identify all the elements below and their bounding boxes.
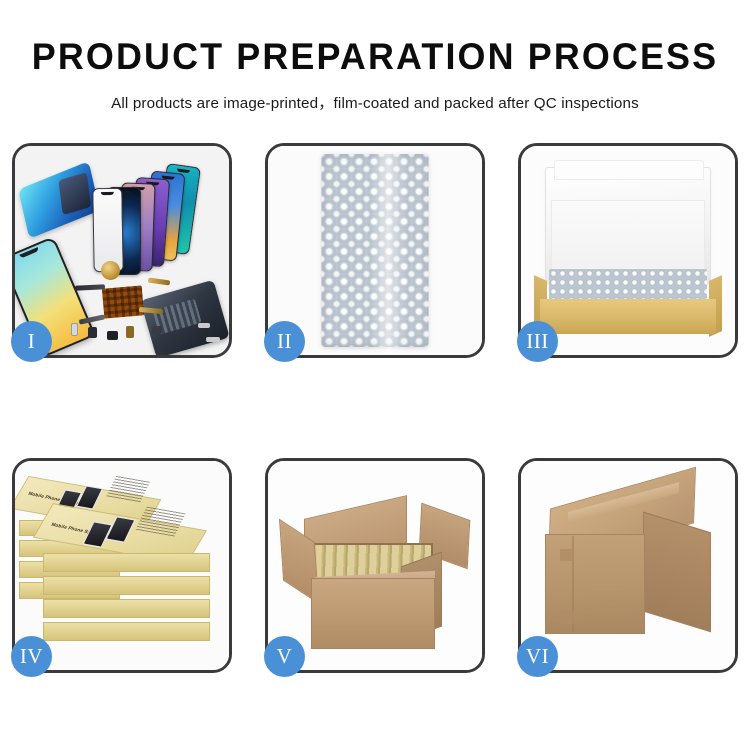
bubble-wrapped-contents [549,269,707,302]
small-component-3 [126,326,134,338]
step-6-image [521,461,735,670]
step-2-image [268,146,482,355]
step-badge-5: V [264,636,305,677]
step-badge-1: I [11,321,52,362]
phone-notch-icon [177,168,190,173]
process-step-panel-2: II [265,143,485,358]
product-preparation-infographic: PRODUCT PREPARATION PROCESS All products… [0,0,750,750]
stacked-box-front-3 [43,599,210,618]
step-badge-6: VI [517,636,558,677]
header: PRODUCT PREPARATION PROCESS All products… [0,0,750,113]
small-component-4 [71,323,78,336]
process-step-panel-1: I [12,143,232,358]
phone-logic-board [140,279,229,355]
small-component-2 [107,331,118,340]
phone-display-fan [109,163,229,288]
tweezers-tool [198,323,210,328]
page-subtitle: All products are image-printed，film-coat… [0,91,750,113]
sealed-carton-scene [521,461,735,670]
phone-parts-scene [15,146,229,355]
step-badge-4: IV [11,636,52,677]
stacked-box-front-1 [43,553,210,572]
small-component-5 [152,326,162,334]
process-step-panel-5: V [265,458,485,673]
blue-protective-film [18,161,100,239]
box-front-panel [540,299,715,335]
inner-box-scene [521,146,735,355]
process-step-panel-6: VI [518,458,738,673]
page-title: PRODUCT PREPARATION PROCESS [11,38,739,75]
step-5-image [268,461,482,670]
flex-cable-1 [75,284,105,291]
foam-padding [551,200,705,279]
process-step-panel-3: III [518,143,738,358]
carton-tab-upper [560,549,575,562]
connector-chip-array [102,286,144,319]
bubble-wrapped-screen [322,154,429,346]
phone-notch-icon [101,192,114,195]
carton-right-face [643,511,711,632]
open-carton-scene [268,461,482,670]
step-4-image: Mobile Phone Spare Parts Mobile Phone Sp… [15,461,229,670]
carton-front-panel [311,578,435,649]
vibration-motor-part [101,261,120,280]
stacked-box-front-2 [43,576,210,595]
screwdriver-tool [206,337,220,342]
step-badge-2: II [264,321,305,362]
stacked-boxes-scene: Mobile Phone Spare Parts Mobile Phone Sp… [15,461,229,670]
phone-glass-protector [92,187,123,272]
small-component-1 [88,327,97,338]
stacked-box-front-4 [43,622,210,641]
process-steps-grid: I II [12,143,738,678]
step-3-image [521,146,735,355]
step-badge-3: III [517,321,558,362]
step-1-image [15,146,229,355]
bubble-wrap-scene [268,146,482,355]
carton-tab-lower [560,611,575,624]
process-step-panel-4: Mobile Phone Spare Parts Mobile Phone Sp… [12,458,232,673]
